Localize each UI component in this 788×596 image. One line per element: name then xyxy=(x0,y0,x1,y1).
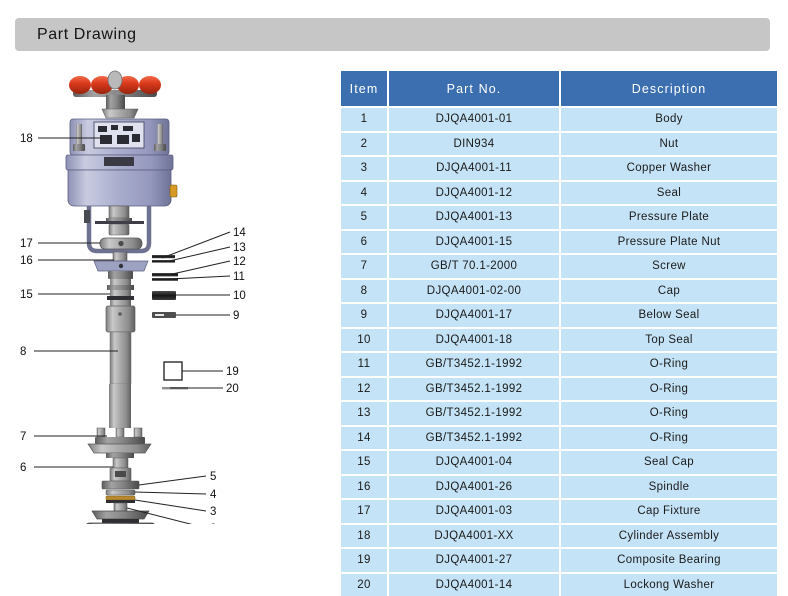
seal-cap-graphic xyxy=(107,271,134,306)
table-row: 8DJQA4001-02-00Cap xyxy=(341,280,777,305)
column-header-part-no: Part No. xyxy=(389,71,561,108)
callout-6: 6 xyxy=(20,462,113,474)
cell-description: O-Ring xyxy=(561,427,777,452)
table-row: 20DJQA4001-14Lockong Washer xyxy=(341,574,777,596)
cell-part-no: GB/T 70.1-2000 xyxy=(389,255,561,280)
cell-item: 5 xyxy=(341,206,389,231)
handwheel-graphic xyxy=(69,71,161,118)
cell-part-no: GB/T3452.1-1992 xyxy=(389,427,561,452)
cell-part-no: DJQA4001-13 xyxy=(389,206,561,231)
table-row: 3DJQA4001-11Copper Washer xyxy=(341,157,777,182)
cell-description: Spindle xyxy=(561,476,777,501)
callout-8: 8 xyxy=(20,346,118,358)
cap-graphic xyxy=(106,306,135,384)
callout-label-17: 17 xyxy=(20,238,33,250)
parts-table-body: 1DJQA4001-01Body2DIN934Nut3DJQA4001-11Co… xyxy=(341,108,777,596)
cell-item: 14 xyxy=(341,427,389,452)
table-row: 6DJQA4001-15Pressure Plate Nut xyxy=(341,231,777,256)
cell-item: 16 xyxy=(341,476,389,501)
table-row: 7GB/T 70.1-2000Screw xyxy=(341,255,777,280)
table-row: 9DJQA4001-17Below Seal xyxy=(341,304,777,329)
cell-part-no: DJQA4001-17 xyxy=(389,304,561,329)
cell-item: 19 xyxy=(341,549,389,574)
oring-symbols-graphic xyxy=(152,255,178,281)
cell-part-no: DJQA4001-02-00 xyxy=(389,280,561,305)
callout-label-13: 13 xyxy=(233,242,246,254)
cell-description: Lockong Washer xyxy=(561,574,777,596)
cell-part-no: DJQA4001-27 xyxy=(389,549,561,574)
column-header-item: Item xyxy=(341,71,389,108)
table-row: 10DJQA4001-18Top Seal xyxy=(341,329,777,354)
cell-item: 20 xyxy=(341,574,389,596)
cell-item: 3 xyxy=(341,157,389,182)
cell-part-no: DIN934 xyxy=(389,133,561,158)
cell-description: Copper Washer xyxy=(561,157,777,182)
callout-label-7: 7 xyxy=(20,431,26,443)
table-row: 19DJQA4001-27Composite Bearing xyxy=(341,549,777,574)
table-row: 16DJQA4001-26Spindle xyxy=(341,476,777,501)
cell-part-no: DJQA4001-12 xyxy=(389,182,561,207)
cell-item: 18 xyxy=(341,525,389,550)
cell-item: 12 xyxy=(341,378,389,403)
callout-15: 15 xyxy=(20,289,110,301)
callout-label-14: 14 xyxy=(233,227,246,239)
cell-item: 6 xyxy=(341,231,389,256)
table-header-row: Item Part No. Description xyxy=(341,71,777,108)
cell-part-no: DJQA4001-26 xyxy=(389,476,561,501)
parts-table: Item Part No. Description 1DJQA4001-01Bo… xyxy=(341,71,777,596)
page-title: Part Drawing xyxy=(37,26,137,44)
cell-item: 17 xyxy=(341,500,389,525)
cell-part-no: DJQA4001-01 xyxy=(389,108,561,133)
column-header-description: Description xyxy=(561,71,777,108)
callout-10: 10 xyxy=(152,290,246,302)
table-row: 11GB/T3452.1-1992O-Ring xyxy=(341,353,777,378)
cell-description: Composite Bearing xyxy=(561,549,777,574)
cell-part-no: DJQA4001-18 xyxy=(389,329,561,354)
callout-label-5: 5 xyxy=(210,471,216,483)
table-row: 2DIN934Nut xyxy=(341,133,777,158)
callout-9: 9 xyxy=(152,310,239,322)
callout-label-19: 19 xyxy=(226,366,239,378)
table-row: 4DJQA4001-12Seal xyxy=(341,182,777,207)
table-row: 17DJQA4001-03Cap Fixture xyxy=(341,500,777,525)
callout-label-10: 10 xyxy=(233,290,246,302)
cell-description: Seal Cap xyxy=(561,451,777,476)
table-row: 18DJQA4001-XXCylinder Assembly xyxy=(341,525,777,550)
table-row: 13GB/T3452.1-1992O-Ring xyxy=(341,402,777,427)
cell-item: 7 xyxy=(341,255,389,280)
cell-description: O-Ring xyxy=(561,353,777,378)
callout-label-12: 12 xyxy=(233,256,246,268)
cell-part-no: DJQA4001-04 xyxy=(389,451,561,476)
cell-description: Body xyxy=(561,108,777,133)
cell-item: 9 xyxy=(341,304,389,329)
callout-7: 7 xyxy=(20,431,107,443)
cell-part-no: DJQA4001-11 xyxy=(389,157,561,182)
cell-item: 10 xyxy=(341,329,389,354)
callout-label-6: 6 xyxy=(20,462,26,474)
cylinder-assembly-graphic xyxy=(66,119,177,206)
cell-part-no: DJQA4001-03 xyxy=(389,500,561,525)
callout-label-15: 15 xyxy=(20,289,33,301)
cell-item: 13 xyxy=(341,402,389,427)
table-row: 15DJQA4001-04Seal Cap xyxy=(341,451,777,476)
cell-description: Cap Fixture xyxy=(561,500,777,525)
callout-label-16: 16 xyxy=(20,255,33,267)
callout-5: 5 xyxy=(139,471,216,485)
cell-description: Screw xyxy=(561,255,777,280)
section-header-bar: Part Drawing xyxy=(15,18,770,51)
cell-item: 4 xyxy=(341,182,389,207)
callout-label-11: 11 xyxy=(233,271,245,283)
cell-item: 8 xyxy=(341,280,389,305)
callout-label-20: 20 xyxy=(226,383,239,395)
table-row: 14GB/T3452.1-1992O-Ring xyxy=(341,427,777,452)
part-drawing-illustration: 18 17 16 15 8 7 6 1 14 13 xyxy=(10,62,330,524)
cell-part-no: GB/T3452.1-1992 xyxy=(389,353,561,378)
cell-description: Pressure Plate Nut xyxy=(561,231,777,256)
cell-description: Seal xyxy=(561,182,777,207)
cell-description: O-Ring xyxy=(561,402,777,427)
cell-description: Pressure Plate xyxy=(561,206,777,231)
cell-part-no: GB/T3452.1-1992 xyxy=(389,378,561,403)
cell-item: 1 xyxy=(341,108,389,133)
cell-description: Cap xyxy=(561,280,777,305)
pressure-plate-stack-graphic xyxy=(102,458,139,511)
yoke-spindle-graphic xyxy=(84,206,149,271)
cell-item: 2 xyxy=(341,133,389,158)
callout-label-2: 2 xyxy=(210,523,216,524)
callout-3: 3 xyxy=(135,500,216,518)
cell-part-no: DJQA4001-14 xyxy=(389,574,561,596)
bonnet-flange-screws-graphic xyxy=(88,384,151,458)
callout-4: 4 xyxy=(135,489,217,501)
cell-item: 15 xyxy=(341,451,389,476)
callout-20: 20 xyxy=(162,383,239,395)
cell-description: Cylinder Assembly xyxy=(561,525,777,550)
parts-table-container: Item Part No. Description 1DJQA4001-01Bo… xyxy=(341,71,767,596)
callout-label-3: 3 xyxy=(210,506,216,518)
cell-description: Top Seal xyxy=(561,329,777,354)
cell-description: Below Seal xyxy=(561,304,777,329)
cell-description: O-Ring xyxy=(561,378,777,403)
callout-label-8: 8 xyxy=(20,346,26,358)
table-row: 12GB/T3452.1-1992O-Ring xyxy=(341,378,777,403)
callout-19: 19 xyxy=(164,362,239,380)
callout-label-18: 18 xyxy=(20,133,33,145)
cell-item: 11 xyxy=(341,353,389,378)
table-row: 1DJQA4001-01Body xyxy=(341,108,777,133)
callout-11: 11 xyxy=(170,271,245,283)
table-row: 5DJQA4001-13Pressure Plate xyxy=(341,206,777,231)
callout-label-4: 4 xyxy=(210,489,217,501)
cell-part-no: DJQA4001-15 xyxy=(389,231,561,256)
callout-label-9: 9 xyxy=(233,310,239,322)
cell-description: Nut xyxy=(561,133,777,158)
cell-part-no: GB/T3452.1-1992 xyxy=(389,402,561,427)
cell-part-no: DJQA4001-XX xyxy=(389,525,561,550)
